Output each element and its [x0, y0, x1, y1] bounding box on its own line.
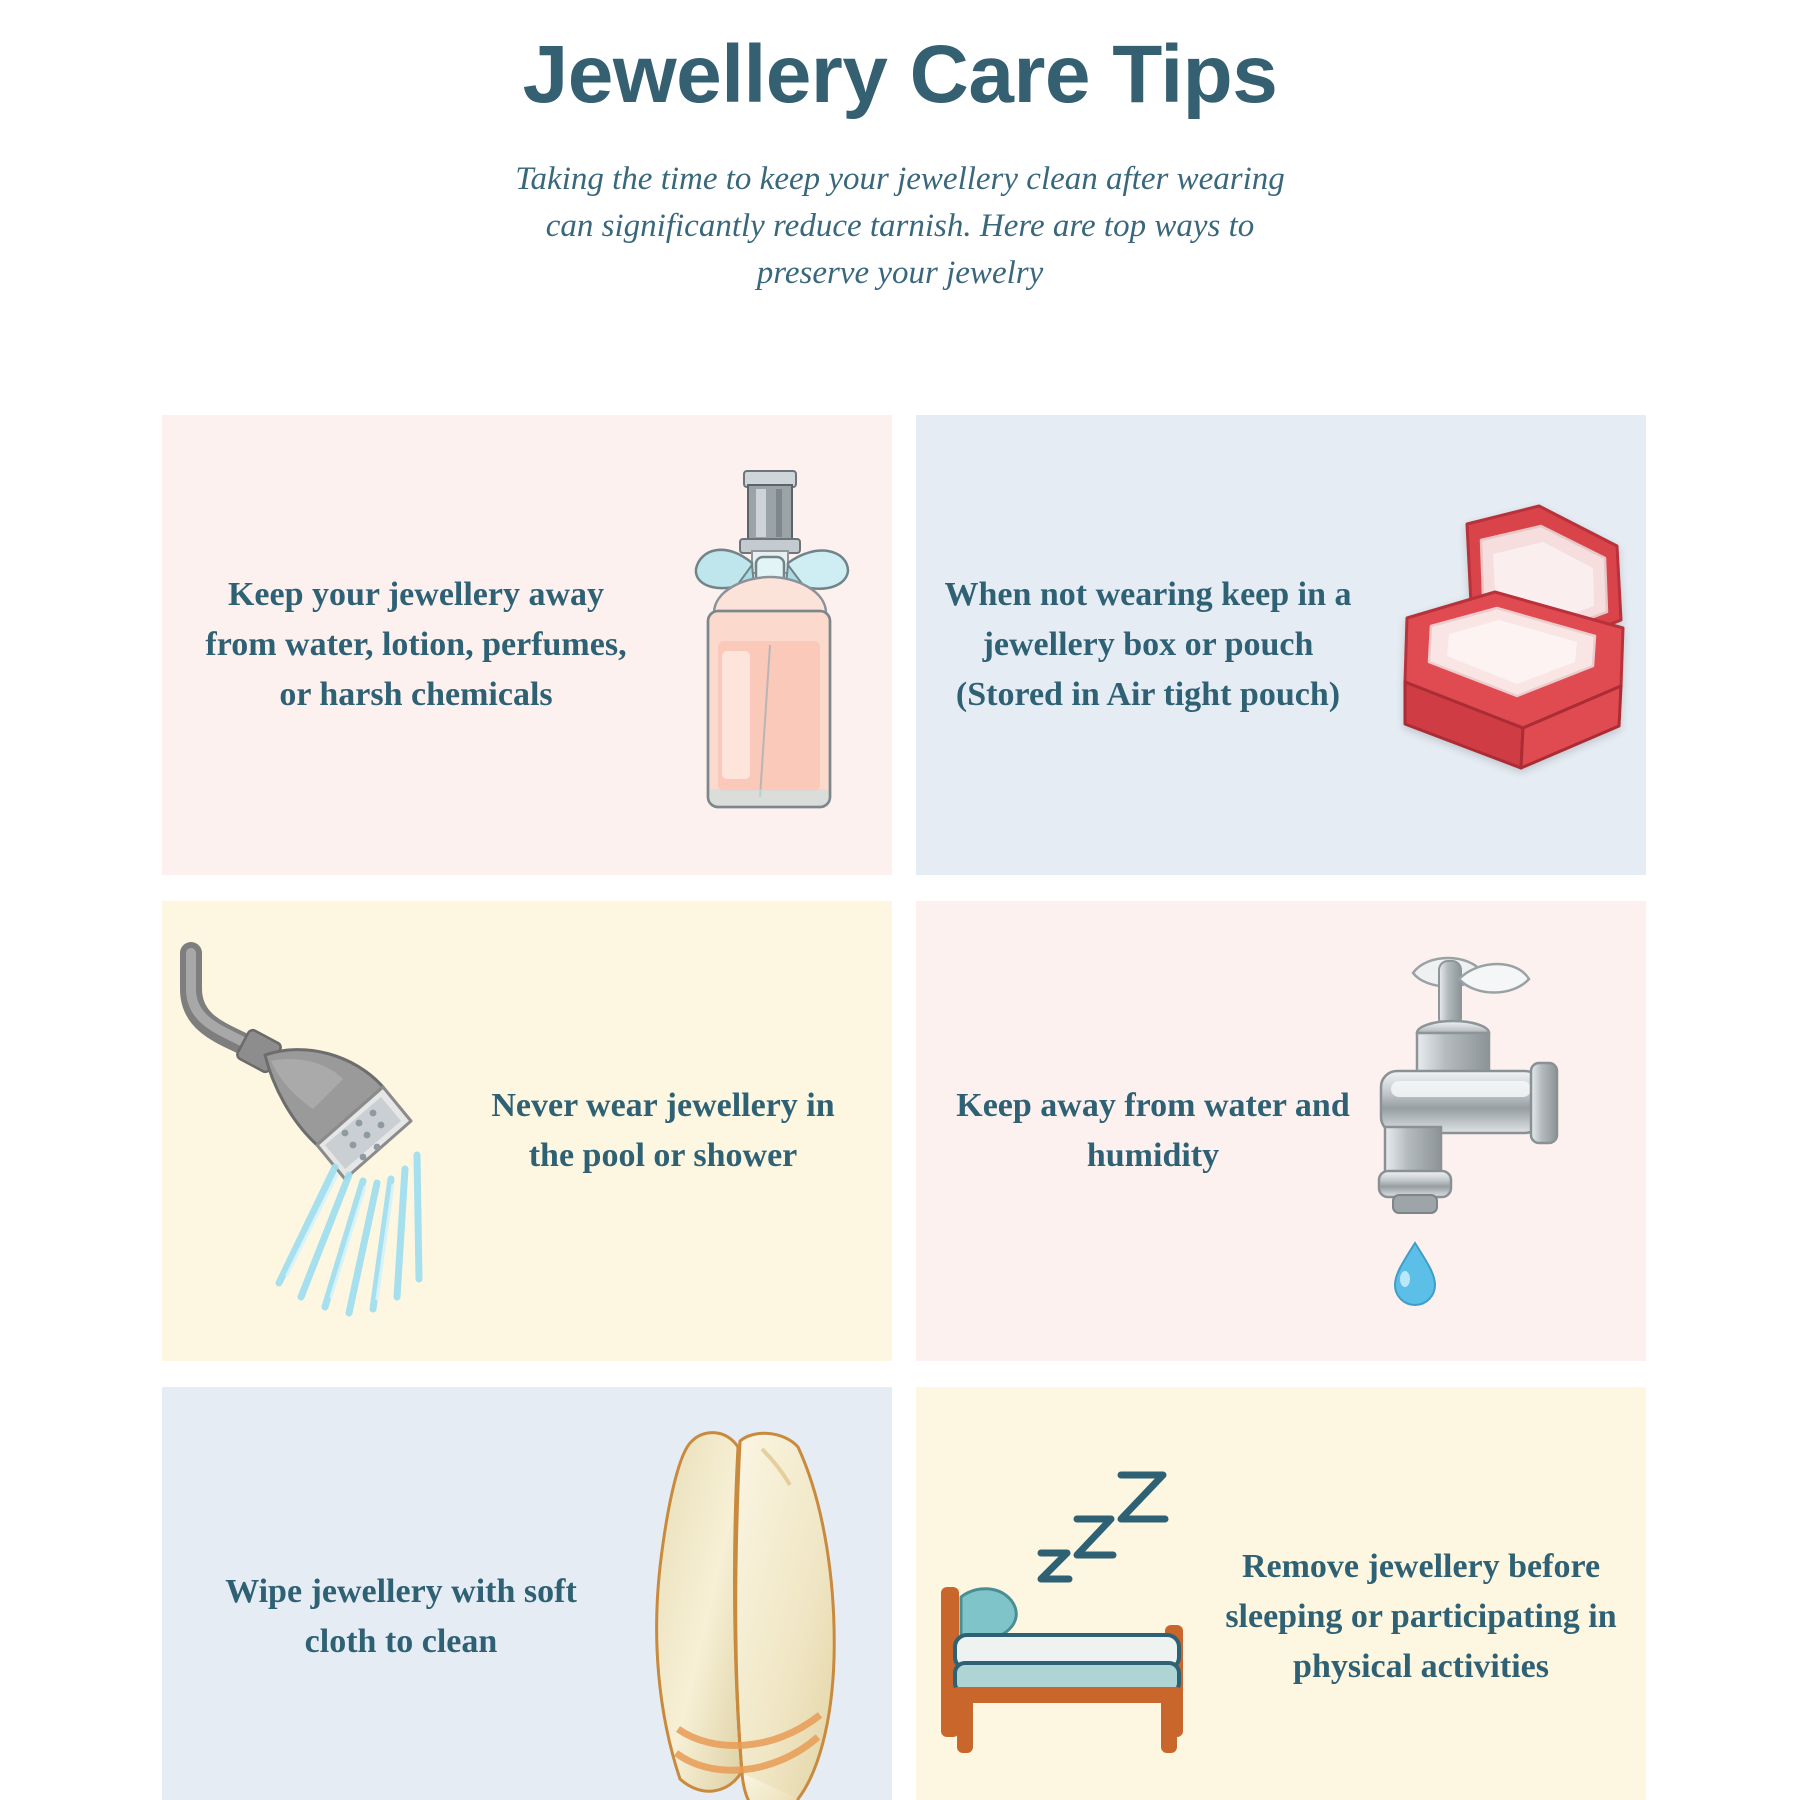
- ring-box-icon: [1366, 495, 1646, 795]
- tips-grid: Keep your jewellery away from water, lot…: [162, 415, 1646, 1800]
- header: Jewellery Care Tips Taking the time to k…: [0, 0, 1800, 297]
- faucet-icon: [1356, 921, 1646, 1341]
- perfume-bottle-icon: [642, 435, 892, 855]
- cloth-icon: [612, 1402, 892, 1800]
- tip-card-text: Never wear jewellery in the pool or show…: [462, 1081, 892, 1181]
- tip-card-text: Keep away from water and humidity: [916, 1081, 1356, 1181]
- page-title: Jewellery Care Tips: [0, 30, 1800, 120]
- tip-card-text: When not wearing keep in a jewellery box…: [916, 570, 1366, 720]
- bed-sleeping-icon: [916, 1452, 1216, 1782]
- tip-card-avoid-water-humidity[interactable]: Keep away from water and humidity: [916, 901, 1646, 1361]
- tip-card-text: Wipe jewellery with soft cloth to clean: [162, 1567, 612, 1667]
- tip-card-remove-before-sleeping[interactable]: Remove jewellery before sleeping or part…: [916, 1387, 1646, 1800]
- shower-head-icon: [162, 921, 462, 1341]
- tip-card-wipe-with-cloth[interactable]: Wipe jewellery with soft cloth to clean: [162, 1387, 892, 1800]
- infographic-page: Jewellery Care Tips Taking the time to k…: [0, 0, 1800, 1800]
- tip-card-text: Keep your jewellery away from water, lot…: [162, 570, 642, 720]
- page-subtitle: Taking the time to keep your jewellery c…: [505, 156, 1295, 297]
- tip-card-store-in-box[interactable]: When not wearing keep in a jewellery box…: [916, 415, 1646, 875]
- tip-card-avoid-chemicals[interactable]: Keep your jewellery away from water, lot…: [162, 415, 892, 875]
- tip-card-text: Remove jewellery before sleeping or part…: [1216, 1542, 1646, 1692]
- tip-card-no-pool-or-shower[interactable]: Never wear jewellery in the pool or show…: [162, 901, 892, 1361]
